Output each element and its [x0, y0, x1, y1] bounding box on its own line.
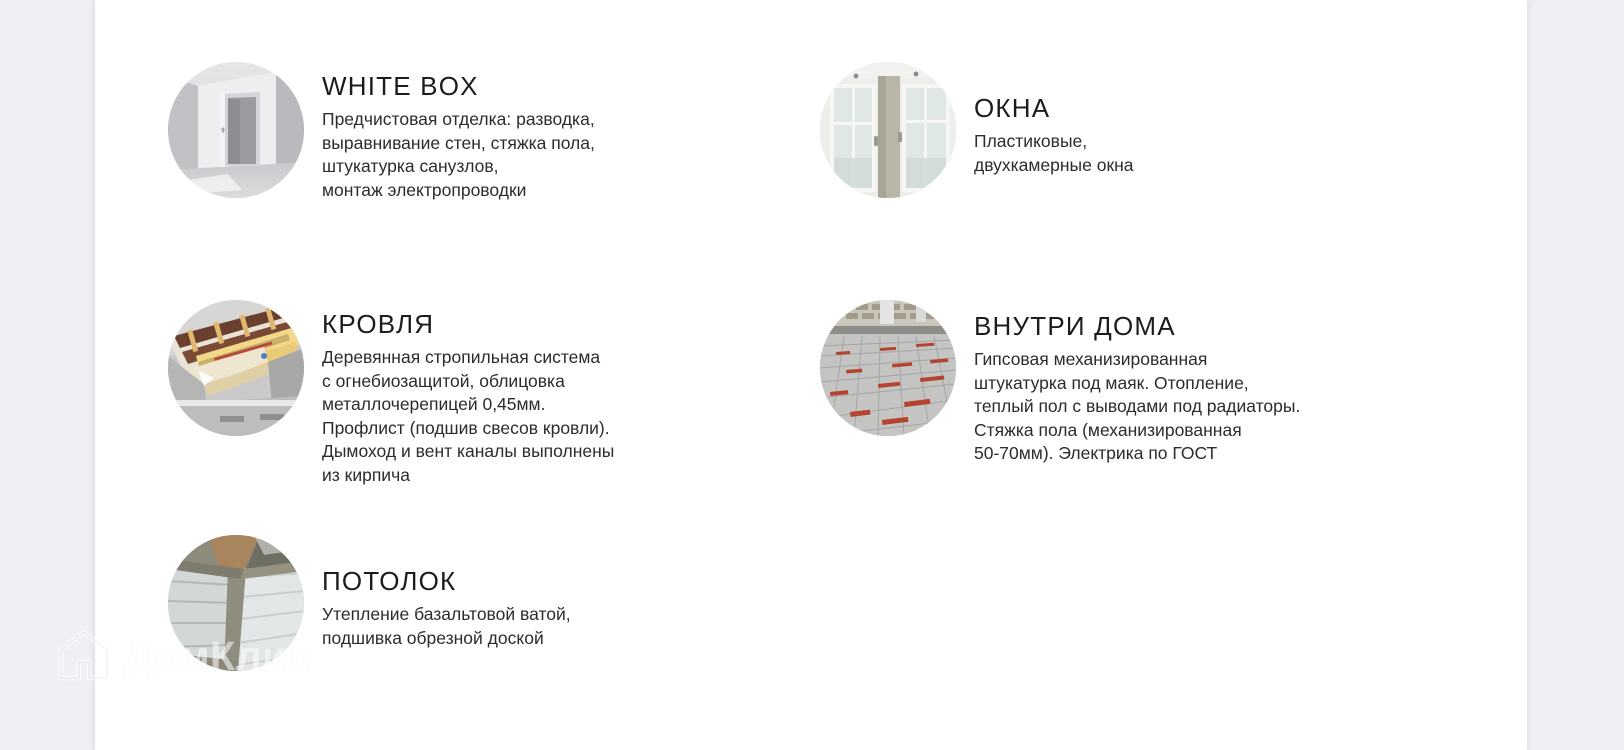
feature-description: Пластиковые, двухкамерные окна: [974, 130, 1440, 177]
feature-description: Гипсовая механизированная штукатурка под…: [974, 348, 1440, 466]
feature-item-roof: КРОВЛЯ Деревянная стропильная система с …: [168, 300, 808, 488]
feature-title: ВНУТРИ ДОМА: [974, 312, 1440, 341]
feature-thumbnail-inside-house: [820, 300, 956, 452]
feature-text-inside-house: ВНУТРИ ДОМА Гипсовая механизированная шт…: [974, 300, 1440, 466]
windows-photo: [820, 62, 956, 198]
white-box-room-photo: [168, 62, 304, 198]
feature-item-windows: ОКНА Пластиковые, двухкамерные окна: [820, 62, 1440, 214]
screenshot-viewport: WHITE BOX Предчистовая отделка: разводка…: [0, 0, 1624, 750]
feature-thumbnail-roof: [168, 300, 304, 452]
feature-item-inside-house: ВНУТРИ ДОМА Гипсовая механизированная шт…: [820, 300, 1440, 466]
feature-text-roof: КРОВЛЯ Деревянная стропильная система с …: [322, 300, 808, 488]
feature-title: ПОТОЛОК: [322, 567, 808, 596]
feature-thumbnail-ceiling: [168, 535, 304, 687]
feature-text-windows: ОКНА Пластиковые, двухкамерные окна: [974, 62, 1440, 177]
feature-title: ОКНА: [974, 94, 1440, 123]
feature-item-white-box: WHITE BOX Предчистовая отделка: разводка…: [168, 62, 808, 214]
feature-description: Утепление базальтовой ватой, подшивка об…: [322, 603, 808, 650]
feature-description: Деревянная стропильная система с огнебио…: [322, 346, 808, 488]
feature-title: КРОВЛЯ: [322, 310, 808, 339]
feature-title: WHITE BOX: [322, 72, 808, 101]
features-grid: WHITE BOX Предчистовая отделка: разводка…: [95, 0, 1527, 750]
feature-thumbnail-windows: [820, 62, 956, 214]
feature-text-ceiling: ПОТОЛОК Утепление базальтовой ватой, под…: [322, 535, 808, 650]
feature-description: Предчистовая отделка: разводка, выравнив…: [322, 108, 808, 202]
feature-thumbnail-white-box: [168, 62, 304, 214]
ceiling-insulation-photo: [168, 535, 304, 671]
feature-text-white-box: WHITE BOX Предчистовая отделка: разводка…: [322, 62, 808, 202]
page-sheet: WHITE BOX Предчистовая отделка: разводка…: [95, 0, 1527, 750]
roof-rafters-photo: [168, 300, 304, 436]
underfloor-heating-photo: [820, 300, 956, 436]
feature-item-ceiling: ПОТОЛОК Утепление базальтовой ватой, под…: [168, 535, 808, 687]
